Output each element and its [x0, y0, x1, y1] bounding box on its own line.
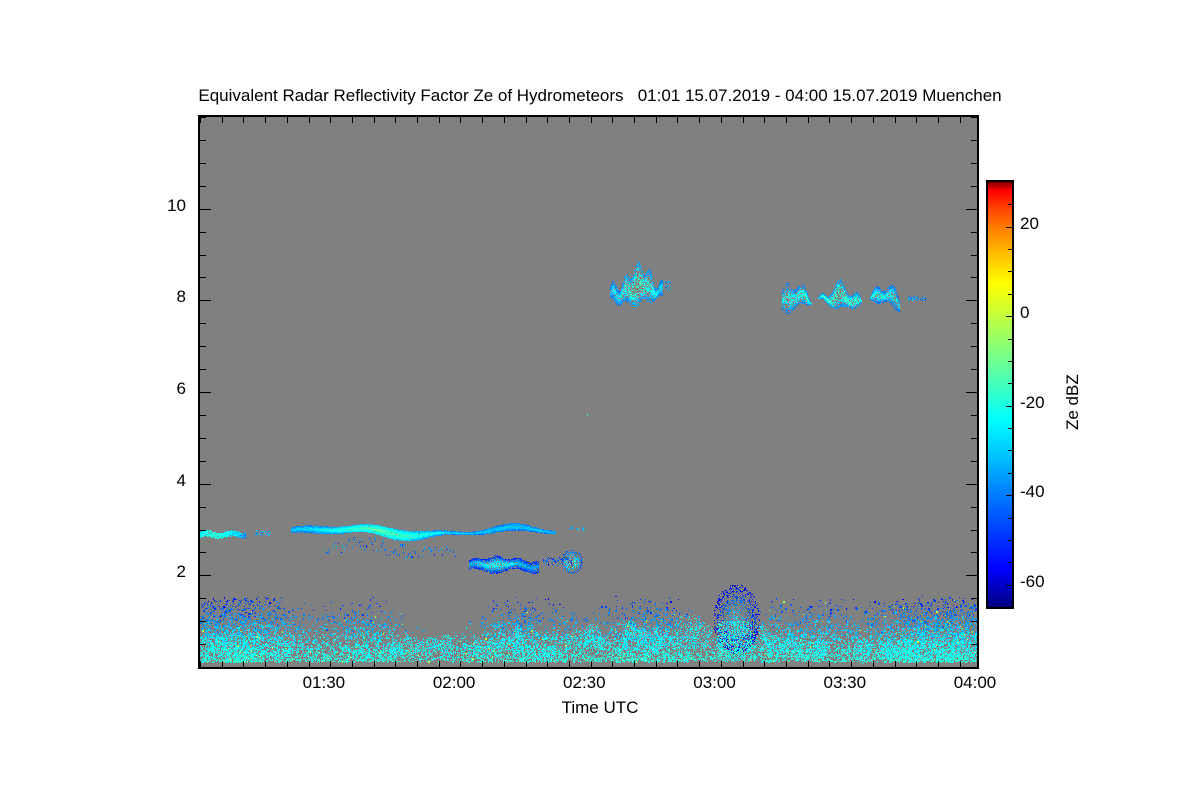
colorbar-tick [1008, 518, 1012, 519]
colorbar-tick [1006, 495, 1012, 496]
x-tick-bottom [591, 661, 592, 667]
y-tick-left [200, 300, 211, 301]
x-tick-bottom [634, 661, 635, 667]
y-tick-label: 6 [126, 379, 186, 399]
x-tick-top [265, 117, 266, 123]
x-tick-top [309, 117, 310, 123]
y-tick-left [200, 530, 206, 531]
x-tick-label: 01:30 [274, 673, 374, 693]
x-tick-bottom [829, 661, 830, 667]
colorbar-tick-label: 20 [1020, 214, 1039, 234]
x-tick-bottom [743, 661, 744, 667]
colorbar-tick [1008, 383, 1012, 384]
x-tick-bottom [243, 661, 244, 667]
y-tick-left [200, 621, 206, 622]
x-tick-top [287, 117, 288, 123]
y-tick-right [971, 163, 977, 164]
y-tick-left [200, 255, 206, 256]
y-tick-right [971, 507, 977, 508]
y-tick-right [971, 415, 977, 416]
x-tick-bottom [504, 661, 505, 667]
y-tick-left [200, 552, 206, 553]
x-tick-bottom [309, 661, 310, 667]
x-tick-bottom [656, 661, 657, 667]
x-tick-bottom [916, 661, 917, 667]
y-tick-left [200, 644, 206, 645]
x-tick-bottom [808, 661, 809, 667]
x-tick-bottom [851, 661, 852, 667]
y-tick-label: 2 [126, 562, 186, 582]
figure-canvas: Equivalent Radar Reflectivity Factor Ze … [0, 0, 1200, 800]
x-tick-top [699, 117, 700, 123]
x-tick-top [634, 117, 635, 123]
colorbar-tick [1008, 562, 1012, 563]
x-tick-top [829, 117, 830, 123]
y-tick-right [971, 117, 977, 118]
y-tick-right [971, 461, 977, 462]
y-tick-left [200, 117, 206, 118]
radar-plot-area [198, 115, 979, 669]
x-tick-top [786, 117, 787, 123]
y-tick-right [971, 644, 977, 645]
colorbar-tick [1008, 339, 1012, 340]
colorbar-tick [1008, 473, 1012, 474]
colorbar-tick [1006, 406, 1012, 407]
x-tick-top [721, 117, 722, 123]
colorbar-tick [1008, 204, 1012, 205]
colorbar-tick [1008, 450, 1012, 451]
y-tick-left [200, 346, 206, 347]
x-tick-top [808, 117, 809, 123]
y-tick-right [966, 484, 977, 485]
colorbar-tick [1008, 249, 1012, 250]
x-tick-bottom [612, 661, 613, 667]
y-tick-left [200, 140, 206, 141]
colorbar-tick [1008, 271, 1012, 272]
x-tick-bottom [265, 661, 266, 667]
x-tick-top [764, 117, 765, 123]
x-tick-label: 02:30 [534, 673, 634, 693]
y-tick-left [200, 232, 206, 233]
y-tick-left [200, 392, 211, 393]
x-tick-top [569, 117, 570, 123]
x-tick-top [851, 117, 852, 123]
x-tick-top [656, 117, 657, 123]
y-tick-left [200, 667, 206, 668]
y-tick-right [971, 530, 977, 531]
x-tick-bottom [287, 661, 288, 667]
colorbar-tick [1006, 585, 1012, 586]
y-tick-right [966, 575, 977, 576]
x-tick-top [677, 117, 678, 123]
y-tick-left [200, 369, 206, 370]
x-tick-bottom [873, 661, 874, 667]
y-tick-right [966, 392, 977, 393]
y-tick-left [200, 598, 206, 599]
x-tick-top [243, 117, 244, 123]
y-tick-left [200, 209, 211, 210]
colorbar-tick-label: -20 [1020, 393, 1045, 413]
colorbar-title: Ze dBZ [1063, 374, 1083, 430]
x-tick-top [547, 117, 548, 123]
y-tick-left [200, 277, 206, 278]
x-tick-bottom [786, 661, 787, 667]
x-tick-top [612, 117, 613, 123]
radar-reflectivity-image [200, 117, 977, 667]
y-tick-label: 10 [126, 196, 186, 216]
y-tick-left [200, 484, 211, 485]
x-tick-label: 03:00 [665, 673, 765, 693]
x-axis-title: Time UTC [0, 698, 1200, 718]
y-tick-left [200, 461, 206, 462]
y-tick-left [200, 323, 206, 324]
x-tick-bottom [938, 661, 939, 667]
y-tick-left [200, 163, 206, 164]
y-tick-right [971, 232, 977, 233]
x-tick-top [916, 117, 917, 123]
y-tick-label: 8 [126, 287, 186, 307]
colorbar-tick-label: 0 [1020, 303, 1029, 323]
radar-image-wrapper [200, 117, 977, 667]
colorbar-tick [1006, 316, 1012, 317]
colorbar-tick-label: -60 [1020, 572, 1045, 592]
x-tick-bottom [721, 661, 722, 667]
y-tick-right [971, 621, 977, 622]
x-tick-bottom [460, 661, 461, 667]
colorbar-tick [1008, 294, 1012, 295]
y-tick-right [971, 140, 977, 141]
x-tick-bottom [352, 661, 353, 667]
x-tick-top [395, 117, 396, 123]
x-tick-top [873, 117, 874, 123]
x-tick-top [352, 117, 353, 123]
y-tick-right [971, 552, 977, 553]
x-tick-top [591, 117, 592, 123]
y-tick-right [971, 369, 977, 370]
y-tick-right [971, 346, 977, 347]
y-tick-right [971, 598, 977, 599]
colorbar-tick-label: -40 [1020, 482, 1045, 502]
y-tick-right [966, 209, 977, 210]
y-tick-left [200, 186, 206, 187]
y-tick-left [200, 438, 206, 439]
x-tick-bottom [764, 661, 765, 667]
y-tick-right [971, 277, 977, 278]
x-tick-top [526, 117, 527, 123]
x-tick-top [439, 117, 440, 123]
x-tick-label: 04:00 [925, 673, 1025, 693]
y-tick-right [971, 667, 977, 668]
chart-title: Equivalent Radar Reflectivity Factor Ze … [0, 86, 1200, 106]
x-tick-label: 03:30 [795, 673, 895, 693]
x-tick-bottom [699, 661, 700, 667]
y-tick-right [971, 323, 977, 324]
y-tick-left [200, 575, 211, 576]
x-tick-top [222, 117, 223, 123]
x-tick-bottom [330, 661, 331, 667]
y-tick-right [971, 255, 977, 256]
colorbar-tick [1008, 540, 1012, 541]
x-tick-top [960, 117, 961, 123]
y-tick-label: 4 [126, 471, 186, 491]
x-tick-top [938, 117, 939, 123]
x-tick-bottom [374, 661, 375, 667]
x-tick-bottom [417, 661, 418, 667]
x-tick-bottom [439, 661, 440, 667]
x-tick-label: 02:00 [404, 673, 504, 693]
x-tick-bottom [895, 661, 896, 667]
x-tick-bottom [569, 661, 570, 667]
x-tick-top [482, 117, 483, 123]
y-tick-left [200, 507, 206, 508]
x-tick-bottom [222, 661, 223, 667]
colorbar-tick [1008, 361, 1012, 362]
x-tick-top [895, 117, 896, 123]
x-tick-bottom [677, 661, 678, 667]
x-tick-top [743, 117, 744, 123]
y-tick-right [971, 186, 977, 187]
x-tick-bottom [547, 661, 548, 667]
y-tick-right [966, 300, 977, 301]
y-tick-left [200, 415, 206, 416]
x-tick-bottom [482, 661, 483, 667]
x-tick-top [330, 117, 331, 123]
colorbar [986, 180, 1014, 609]
x-tick-bottom [526, 661, 527, 667]
y-tick-right [971, 438, 977, 439]
x-tick-top [417, 117, 418, 123]
x-tick-bottom [960, 661, 961, 667]
x-tick-top [460, 117, 461, 123]
colorbar-tick [1006, 227, 1012, 228]
x-tick-top [504, 117, 505, 123]
x-tick-bottom [395, 661, 396, 667]
x-tick-top [374, 117, 375, 123]
colorbar-tick [1008, 428, 1012, 429]
